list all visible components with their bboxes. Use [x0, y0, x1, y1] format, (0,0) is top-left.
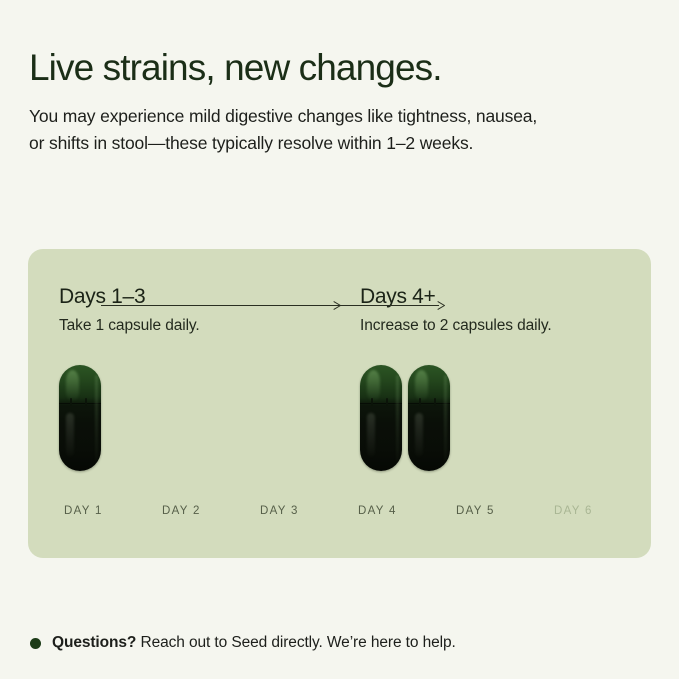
capsule-vent-mark [85, 398, 87, 406]
footer-help-row: Questions? Reach out to Seed directly. W… [30, 632, 456, 654]
schedule-column-days-1-3: Days 1–3 Take 1 capsule daily. [59, 283, 200, 337]
column-subtitle: Take 1 capsule daily. [59, 315, 200, 337]
capsule-cap-highlight [66, 370, 79, 402]
capsule-group-days-1-3 [59, 365, 101, 471]
capsule-vent-mark [419, 398, 421, 406]
day-label-4: DAY 4 [358, 503, 397, 519]
schedule-column-days-4-plus: Days 4+ Increase to 2 capsules daily. [360, 283, 552, 337]
day-label-6: DAY 6 [554, 503, 593, 519]
footer-help-text: Questions? Reach out to Seed directly. W… [52, 632, 456, 654]
capsule-vent-mark [434, 398, 436, 406]
capsule-rim-light [444, 375, 447, 461]
day-label-3: DAY 3 [260, 503, 299, 519]
capsule-vent-mark [371, 398, 373, 406]
dosage-schedule-card: Days 1–3 Take 1 capsule daily. Days 4+ I… [28, 249, 651, 558]
capsule-body-highlight [415, 413, 423, 457]
capsule-body-highlight [367, 413, 375, 457]
day-label-row: DAY 1 DAY 2 DAY 3 DAY 4 DAY 5 DAY 6 [28, 503, 651, 521]
bullet-dot-icon [30, 638, 41, 649]
footer-emphasis: Questions? [52, 634, 136, 651]
page-title: Live strains, new changes. [29, 45, 649, 91]
capsule-rim-light [396, 375, 399, 461]
capsule-group-days-4-plus [360, 365, 450, 471]
footer-rest: Reach out to Seed directly. We’re here t… [136, 634, 455, 651]
capsule-rim-light [95, 375, 98, 461]
capsule-body-highlight [66, 413, 74, 457]
capsule-stack [360, 365, 450, 471]
day-label-1: DAY 1 [64, 503, 103, 519]
column-subtitle: Increase to 2 capsules daily. [360, 315, 552, 337]
capsule-stack [59, 365, 101, 471]
timeline-arrow-days-4-plus [155, 301, 445, 310]
page-subcopy: You may experience mild digestive change… [29, 103, 549, 158]
capsule-cap-highlight [415, 370, 428, 402]
capsule-icon [408, 365, 450, 471]
capsule-icon [59, 365, 101, 471]
capsule-icon [360, 365, 402, 471]
capsule-vent-mark [70, 398, 72, 406]
capsule-vent-mark [386, 398, 388, 406]
day-label-5: DAY 5 [456, 503, 495, 519]
capsule-cap-highlight [367, 370, 380, 402]
page-root: Live strains, new changes. You may exper… [0, 0, 679, 679]
day-label-2: DAY 2 [162, 503, 201, 519]
